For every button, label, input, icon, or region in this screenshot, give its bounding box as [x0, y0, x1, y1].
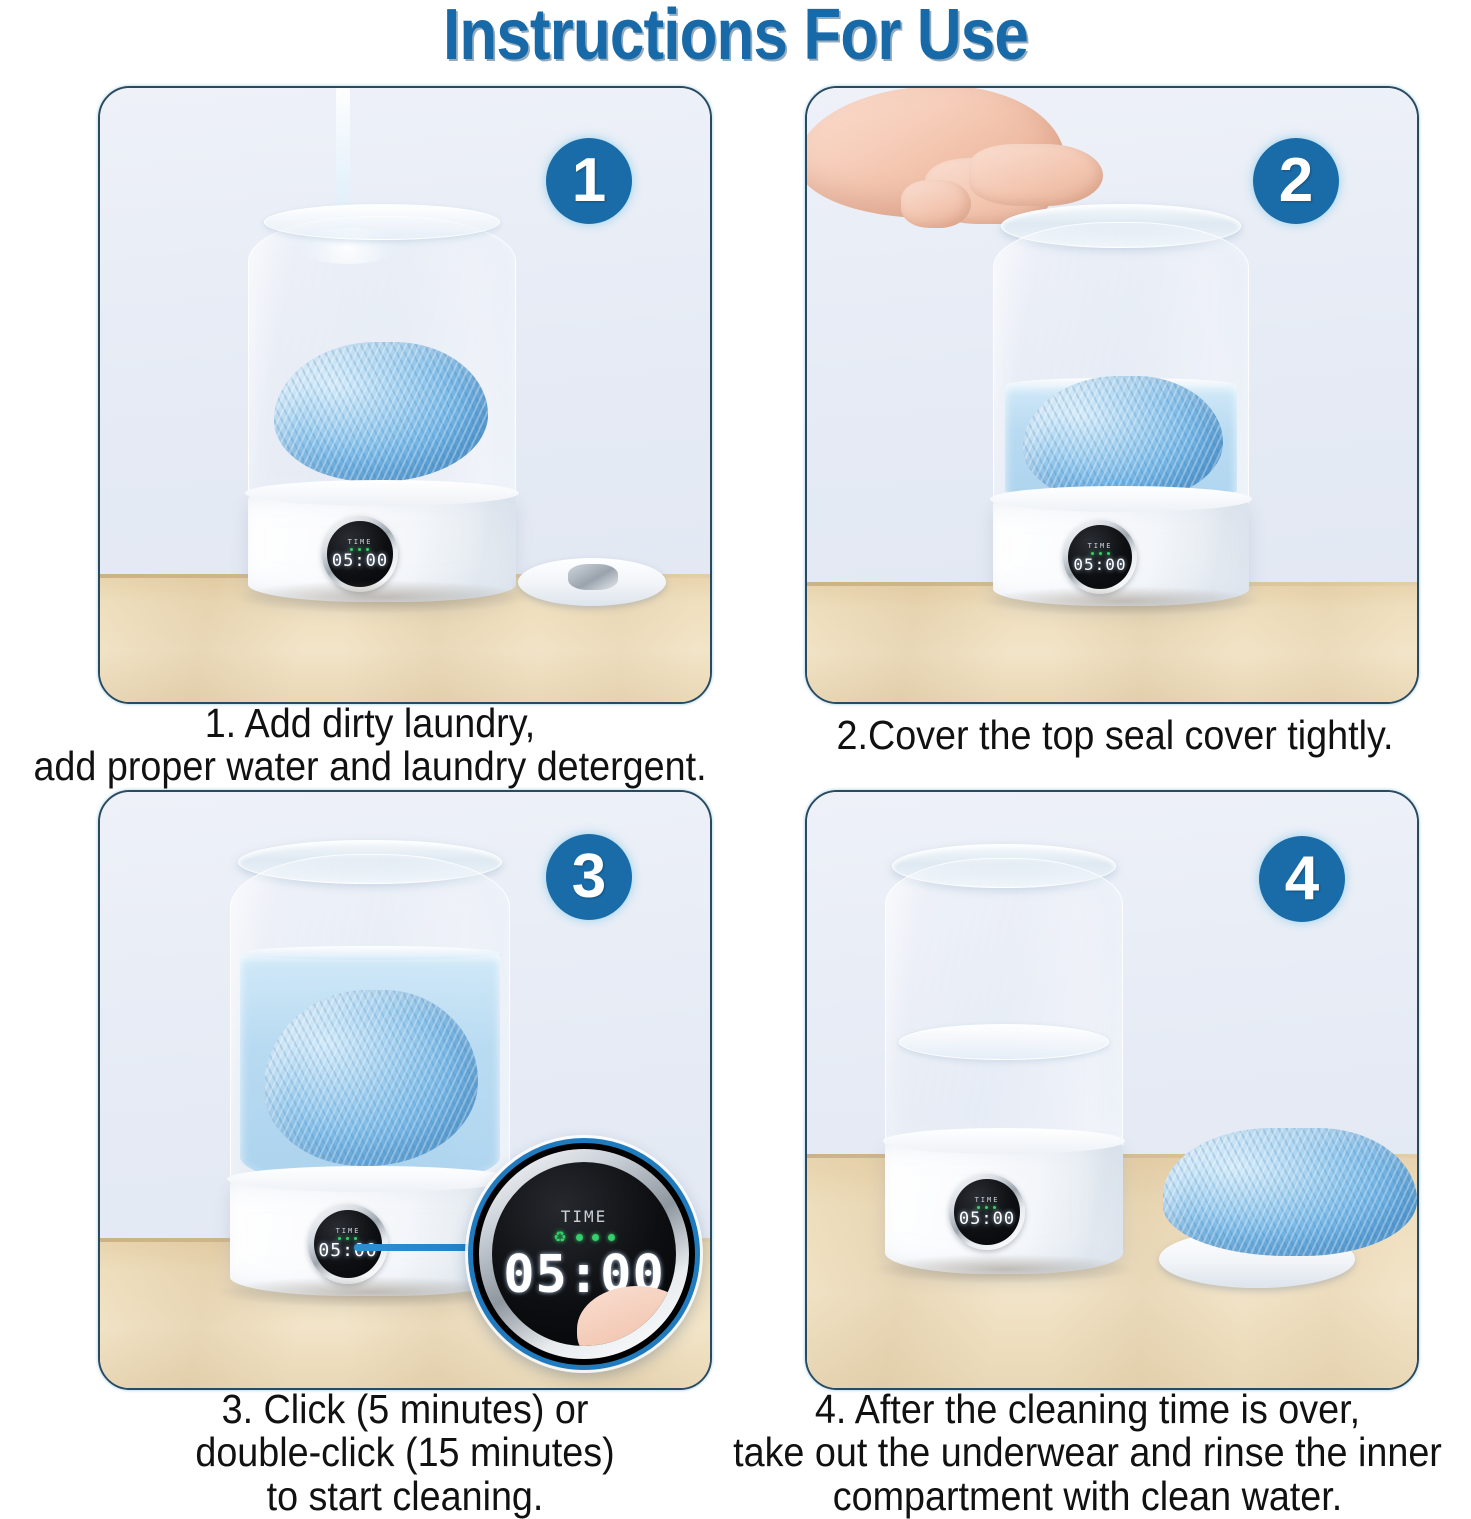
status-dot	[608, 1234, 615, 1241]
infographic-root: Instructions For Use	[0, 0, 1471, 1471]
caption-step-2: 2.Cover the top seal cover tightly.	[811, 714, 1418, 757]
washed-blue-towel	[1163, 1128, 1417, 1256]
caption-line: take out the underwear and rinse the inn…	[731, 1431, 1444, 1474]
caption-line: add proper water and laundry detergent.	[20, 745, 719, 788]
water-surface-line	[240, 946, 500, 960]
recycle-icon: ♻	[553, 1230, 566, 1245]
step-panel-4: TIME 05:00 4	[805, 790, 1419, 1390]
step-panel-3: TIME 05:00	[98, 790, 712, 1390]
caption-line: double-click (15 minutes)	[115, 1431, 695, 1474]
display-time-value: 05:00	[1073, 557, 1126, 573]
seal-cover-knob	[568, 564, 618, 590]
magnified-led-display: TIME ♻ 05:00	[492, 1162, 677, 1347]
blue-laundry-submerged	[264, 990, 478, 1166]
display-time-value: 05:00	[332, 553, 388, 570]
base-rim	[245, 480, 518, 506]
washer-device: TIME 05:00	[993, 206, 1249, 606]
caption-line: 3. Click (5 minutes) or	[115, 1388, 695, 1431]
status-dot	[576, 1234, 583, 1241]
washer-device: TIME 05:00	[230, 840, 510, 1296]
transparent-dome-empty	[885, 858, 1123, 1148]
step-badge-4: 4	[1259, 836, 1345, 922]
caption-step-4: 4. After the cleaning time is over, take…	[731, 1388, 1444, 1518]
control-dial[interactable]: TIME 05:00	[949, 1174, 1025, 1250]
caption-line: 2.Cover the top seal cover tightly.	[811, 714, 1418, 757]
step-badge-2: 2	[1253, 138, 1339, 224]
base-rim	[227, 1166, 513, 1192]
middle-finger	[969, 144, 1103, 206]
magnifier-bezel: TIME ♻ 05:00	[479, 1149, 689, 1359]
magnified-time-label: TIME	[561, 1207, 608, 1226]
blue-laundry	[1023, 376, 1223, 504]
display-magnifier: TIME ♻ 05:00	[468, 1138, 700, 1370]
control-dial[interactable]: TIME 05:00	[1063, 520, 1137, 594]
caption-line: to start cleaning.	[115, 1475, 695, 1518]
display-time-label: TIME	[1088, 542, 1113, 550]
caption-step-3: 3. Click (5 minutes) or double-click (15…	[115, 1388, 695, 1518]
display-time-label: TIME	[975, 1196, 1000, 1204]
device-shadow	[232, 580, 532, 614]
washer-device: TIME 05:00	[885, 844, 1123, 1274]
display-time-label: TIME	[336, 1227, 361, 1235]
step-badge-3: 3	[546, 834, 632, 920]
caption-line: 1. Add dirty laundry,	[20, 702, 719, 745]
inner-compartment-rim	[899, 1024, 1108, 1060]
display-time-label: TIME	[348, 538, 373, 546]
status-dot	[592, 1234, 599, 1241]
step-badge-1: 1	[546, 138, 632, 224]
step-panel-1: TIME 05:00 1	[98, 86, 712, 704]
blue-laundry	[274, 342, 488, 482]
washer-device: TIME 05:00	[248, 216, 516, 602]
device-shadow	[979, 586, 1265, 616]
page-title: Instructions For Use	[103, 0, 1368, 76]
led-display: TIME 05:00	[954, 1179, 1019, 1244]
led-display: TIME 05:00	[1068, 525, 1132, 589]
display-time-value: 05:00	[959, 1211, 1015, 1228]
dome-rim	[264, 204, 500, 240]
base-rim	[883, 1128, 1126, 1154]
caption-line: 4. After the cleaning time is over,	[731, 1388, 1444, 1431]
thumb	[901, 180, 971, 228]
device-shadow	[871, 1254, 1137, 1284]
step-panel-2: TIME 05:00 2	[805, 86, 1419, 704]
caption-step-1: 1. Add dirty laundry, add proper water a…	[20, 702, 719, 789]
led-display: TIME 05:00	[327, 521, 392, 586]
base-rim	[990, 486, 1251, 512]
caption-line: compartment with clean water.	[731, 1475, 1444, 1518]
